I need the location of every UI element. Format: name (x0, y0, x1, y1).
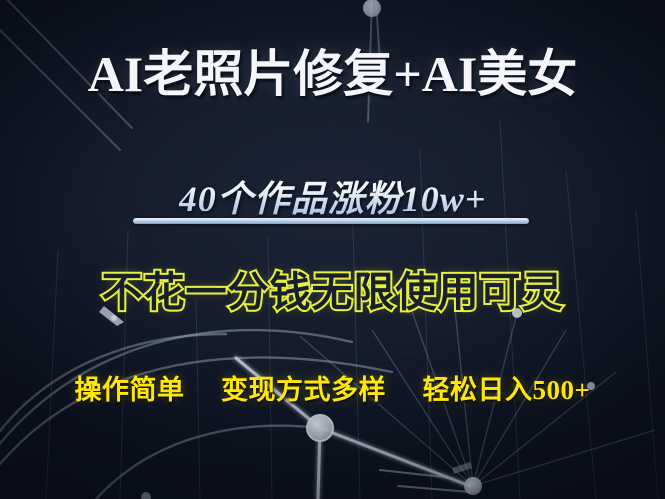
benefit-item-3: 轻松日入500+ (423, 375, 591, 405)
benefit-item-1: 操作简单 (75, 375, 185, 405)
tagline-text: 不花一分钱无限使用可灵 (102, 258, 564, 318)
subheadline-text: 40个作品涨粉10w+ (179, 170, 487, 222)
benefit-item-2: 变现方式多样 (221, 375, 386, 405)
subheadline-underline (133, 218, 529, 224)
benefits-row: 操作简单 变现方式多样 轻松日入500+ (0, 368, 665, 407)
subheadline-row: 40个作品涨粉10w+ (0, 170, 665, 222)
text-stack: AI老照片修复+AI美女 40个作品涨粉10w+ 不花一分钱无限使用可灵 操作简… (0, 0, 665, 499)
poster-canvas: AI老照片修复+AI美女 40个作品涨粉10w+ 不花一分钱无限使用可灵 操作简… (0, 0, 665, 499)
tagline-row: 不花一分钱无限使用可灵 (0, 258, 665, 318)
page-title: AI老照片修复+AI美女 (0, 48, 665, 101)
